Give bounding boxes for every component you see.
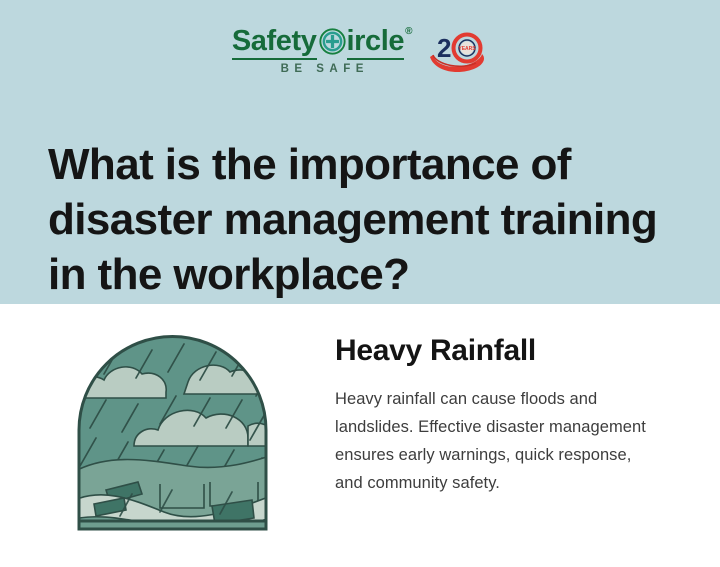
brand-word-circle-text: ircle	[347, 25, 405, 57]
card-text-column: Heavy Rainfall Heavy rainfall can cause …	[335, 334, 655, 497]
20-years-badge-icon: 2 YEARS	[426, 26, 488, 76]
brand-underline-right	[347, 58, 405, 60]
safety-circle-logo[interactable]: Safety ircle ® BE SAFE	[232, 27, 412, 76]
brand-word-safety: Safety	[232, 27, 317, 56]
card-title: Heavy Rainfall	[335, 334, 655, 367]
logo-lockup[interactable]: Safety ircle ® BE SAFE 2 YEARS	[0, 22, 720, 80]
card-body-text: Heavy rainfall can cause floods and land…	[335, 385, 655, 497]
registered-trademark-icon: ®	[405, 27, 412, 37]
brand-tagline: BE SAFE	[275, 64, 369, 76]
circle-plus-icon	[319, 28, 346, 55]
brand-word-circle: ircle	[347, 27, 405, 56]
brand-underline-left	[232, 58, 317, 60]
brand-word-safety-text: Safety	[232, 25, 317, 57]
content-section: Heavy Rainfall Heavy rainfall can cause …	[0, 304, 720, 567]
brand-wordmark: Safety ircle ®	[232, 27, 412, 56]
svg-text:2: 2	[437, 33, 451, 63]
heavy-rainfall-illustration	[76, 334, 269, 532]
svg-text:YEARS: YEARS	[459, 46, 477, 52]
page-title: What is the importance of disaster manag…	[48, 137, 688, 302]
